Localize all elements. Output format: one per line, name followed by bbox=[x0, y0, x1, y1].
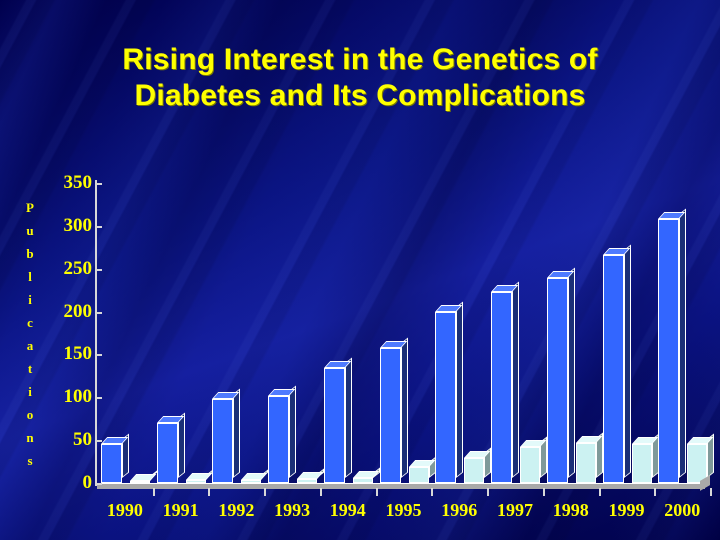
bar-group bbox=[97, 183, 153, 483]
y-axis-tick-mark bbox=[97, 269, 102, 271]
x-axis-tick-mark bbox=[431, 488, 433, 496]
x-axis-tick-label: 2000 bbox=[654, 500, 710, 530]
bar-front-face bbox=[491, 292, 512, 483]
x-axis-tick-mark bbox=[654, 488, 656, 496]
y-axis-tick-label: 100 bbox=[36, 386, 92, 408]
x-axis-tick-label: 1994 bbox=[320, 500, 376, 530]
bar-front-face bbox=[520, 447, 540, 483]
y-axis-tick-mark bbox=[97, 483, 102, 485]
x-axis-tick-mark bbox=[487, 488, 489, 496]
bar-side-face bbox=[289, 386, 296, 478]
bar-side-face bbox=[345, 358, 352, 478]
x-axis-tick-mark bbox=[320, 488, 322, 496]
y-axis-tick-label: 0 bbox=[36, 472, 92, 494]
bar-front-face bbox=[435, 312, 456, 483]
plot-area bbox=[97, 183, 710, 483]
bar-side-face bbox=[679, 209, 686, 478]
x-axis-tick-mark bbox=[710, 488, 712, 496]
x-axis-tick-label: 1992 bbox=[208, 500, 264, 530]
x-axis-tick-label: 1993 bbox=[264, 500, 320, 530]
bar-front-face bbox=[268, 396, 289, 483]
bar-group bbox=[654, 183, 710, 483]
bar-side-face bbox=[512, 281, 519, 478]
x-axis-tick-mark bbox=[376, 488, 378, 496]
x-axis-tick-mark bbox=[599, 488, 601, 496]
bar-front-face bbox=[101, 444, 122, 483]
bar-primary-1996 bbox=[435, 312, 456, 483]
y-axis-tick-mark bbox=[97, 183, 102, 185]
publications-bar-chart: Publications 050100150200250300350 19901… bbox=[0, 0, 720, 540]
bar-primary-1994 bbox=[324, 368, 345, 483]
bar-side-face bbox=[401, 338, 408, 478]
x-axis-tick-label: 1995 bbox=[376, 500, 432, 530]
x-axis-tick-mark bbox=[543, 488, 545, 496]
x-axis-tick-label: 1998 bbox=[543, 500, 599, 530]
x-axis-tick-mark bbox=[264, 488, 266, 496]
bar-primary-1995 bbox=[380, 348, 401, 483]
bar-primary-1997 bbox=[491, 292, 512, 483]
bar-primary-1993 bbox=[268, 396, 289, 483]
bar-front-face bbox=[380, 348, 401, 483]
bar-group bbox=[543, 183, 599, 483]
bar-side-face bbox=[233, 389, 240, 478]
bar-group bbox=[487, 183, 543, 483]
y-axis-tick-mark bbox=[97, 354, 102, 356]
y-axis-tick-label: 250 bbox=[36, 258, 92, 280]
bar-primary-1992 bbox=[212, 399, 233, 483]
bar-group bbox=[599, 183, 655, 483]
bar-primary-2000 bbox=[658, 219, 679, 483]
bar-side-face bbox=[178, 413, 185, 478]
bar-front-face bbox=[547, 278, 568, 483]
x-axis-tick-label: 1990 bbox=[97, 500, 153, 530]
x-axis-tick-label: 1996 bbox=[431, 500, 487, 530]
y-axis-tick-labels: 050100150200250300350 bbox=[36, 0, 92, 540]
bar-front-face bbox=[658, 219, 679, 483]
bar-group bbox=[208, 183, 264, 483]
y-axis-tick-label: 150 bbox=[36, 343, 92, 365]
y-axis-tick-mark bbox=[97, 312, 102, 314]
bar-primary-1990 bbox=[101, 444, 122, 483]
slide-canvas: Rising Interest in the Genetics of Diabe… bbox=[0, 0, 720, 540]
y-axis-tick-mark bbox=[97, 440, 102, 442]
bar-front-face bbox=[576, 443, 596, 483]
x-axis-tick-mark bbox=[153, 488, 155, 496]
x-axis-tick-labels: 1990199119921993199419951996199719981999… bbox=[97, 500, 710, 530]
bar-primary-1999 bbox=[603, 255, 624, 483]
x-axis-tick-mark bbox=[208, 488, 210, 496]
bar-secondary-1995 bbox=[409, 467, 429, 483]
bar-secondary-1998 bbox=[576, 443, 596, 483]
x-axis-tick-label: 1991 bbox=[153, 500, 209, 530]
y-axis-tick-mark bbox=[97, 226, 102, 228]
bar-primary-1998 bbox=[547, 278, 568, 483]
bar-primary-1991 bbox=[157, 423, 178, 483]
y-axis-tick-label: 350 bbox=[36, 172, 92, 194]
bar-secondary-1996 bbox=[464, 458, 484, 483]
y-axis-tick-label: 300 bbox=[36, 215, 92, 237]
bar-side-face bbox=[624, 245, 631, 478]
bar-side-face bbox=[456, 302, 463, 478]
bar-secondary-1997 bbox=[520, 447, 540, 483]
bar-front-face bbox=[212, 399, 233, 483]
y-axis-tick-label: 50 bbox=[36, 429, 92, 451]
bar-group bbox=[320, 183, 376, 483]
bar-front-face bbox=[157, 423, 178, 483]
bar-front-face bbox=[324, 368, 345, 483]
bar-front-face bbox=[632, 444, 652, 483]
y-axis-tick-mark bbox=[97, 397, 102, 399]
bar-secondary-1999 bbox=[632, 444, 652, 483]
bar-group bbox=[264, 183, 320, 483]
bar-side-face bbox=[568, 268, 575, 478]
bar-front-face bbox=[409, 467, 429, 483]
bar-front-face bbox=[464, 458, 484, 483]
bar-group bbox=[153, 183, 209, 483]
bar-group bbox=[376, 183, 432, 483]
x-axis-tick-label: 1999 bbox=[599, 500, 655, 530]
bar-group bbox=[431, 183, 487, 483]
x-axis-floor bbox=[97, 483, 705, 489]
bar-front-face bbox=[603, 255, 624, 483]
x-axis-tick-label: 1997 bbox=[487, 500, 543, 530]
y-axis-tick-label: 200 bbox=[36, 301, 92, 323]
